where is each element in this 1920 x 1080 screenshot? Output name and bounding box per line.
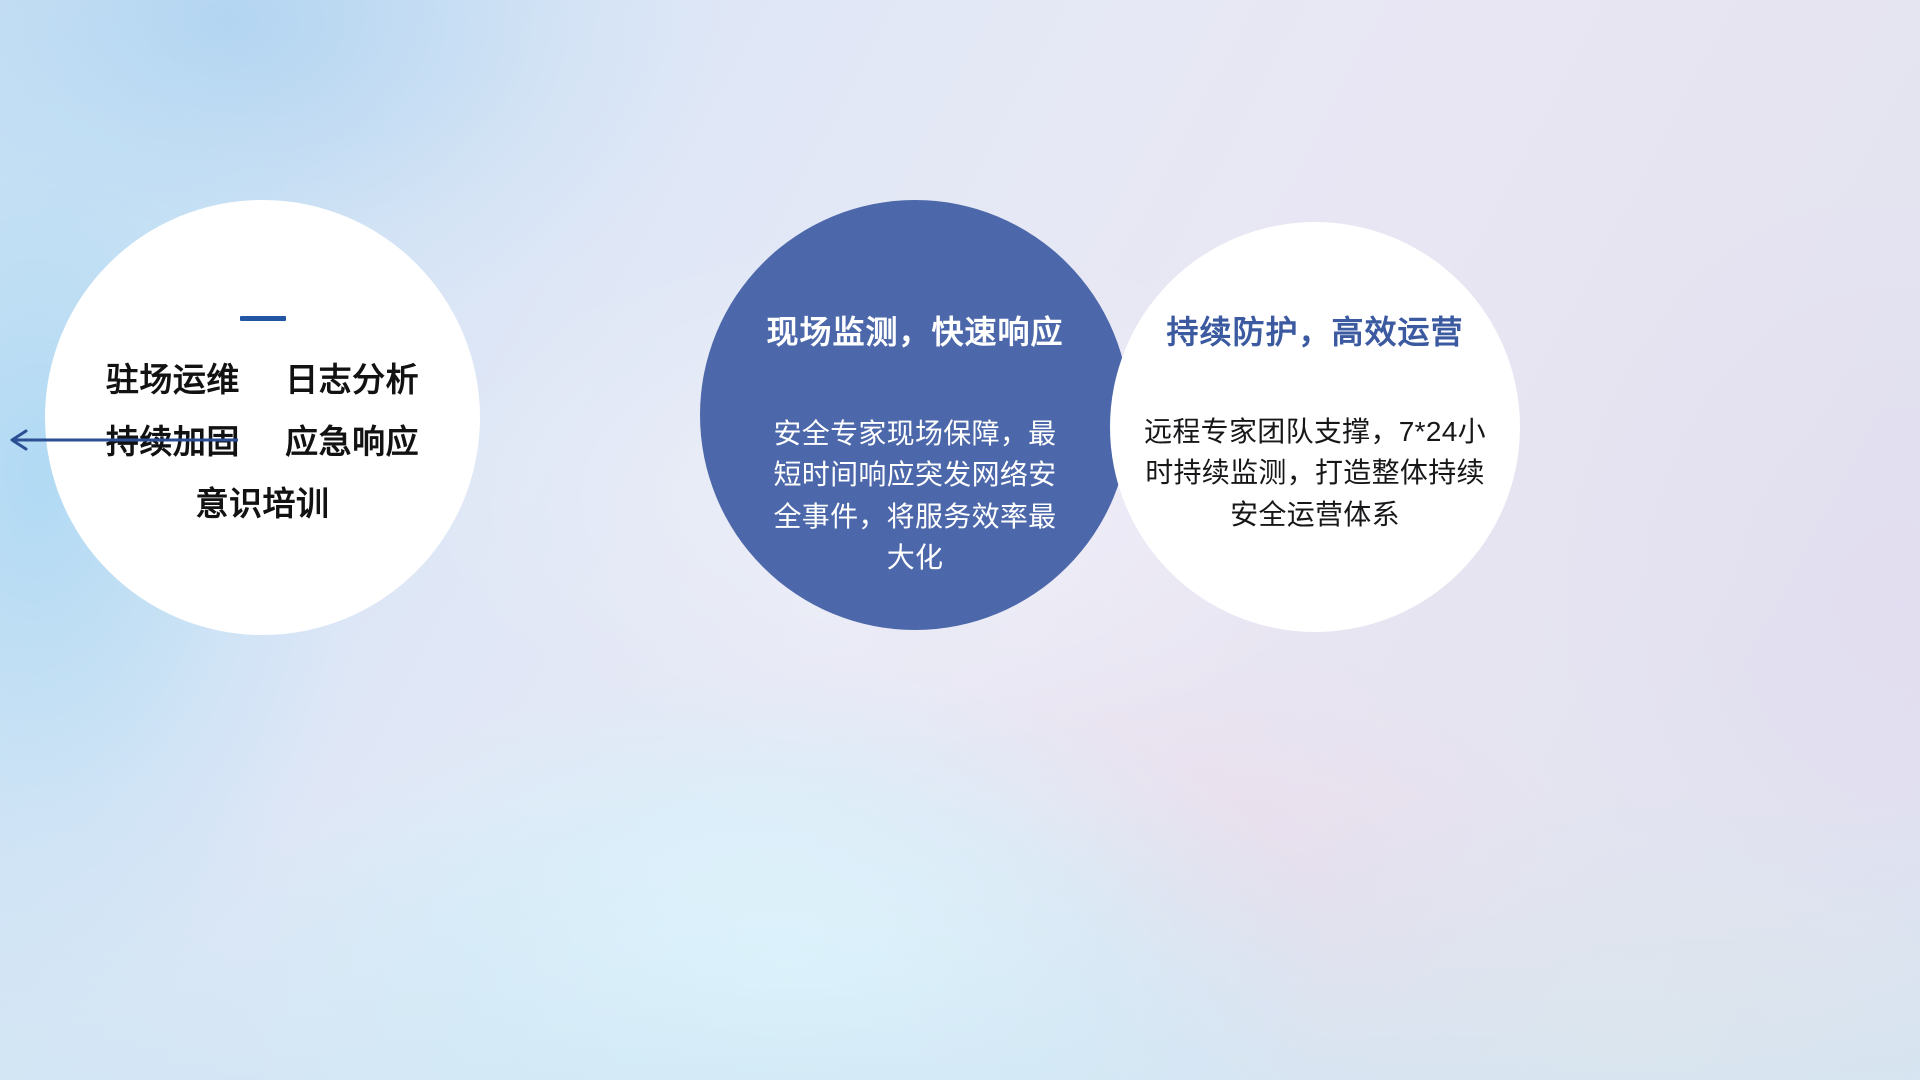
capability-label-log-analysis: 日志分析	[285, 361, 419, 398]
onsite-monitoring-title: 现场监测，快速响应	[766, 307, 1063, 353]
capability-row-3: 意识培训	[196, 487, 330, 520]
capability-label-awareness-training: 意识培训	[196, 485, 330, 522]
capability-row-1: 驻场运维 日志分析	[106, 363, 419, 396]
flow-arrow-left	[0, 420, 240, 460]
capability-label-onsite-ops: 驻场运维	[106, 361, 240, 398]
continuous-protection-body: 远程专家团队支撑，7*24小时持续监测，打造整体持续安全运营体系	[1143, 411, 1488, 535]
divider-dash-icon	[240, 316, 286, 321]
continuous-protection-title: 持续防护，高效运营	[1166, 307, 1463, 353]
capabilities-circle[interactable]: 驻场运维 日志分析 持续加固 应急响应 意识培训	[45, 200, 480, 635]
continuous-protection-circle[interactable]: 持续防护，高效运营 远程专家团队支撑，7*24小时持续监测，打造整体持续安全运营…	[1110, 222, 1520, 632]
slide-canvas: 驻场运维 日志分析 持续加固 应急响应 意识培训 现场监测，快速响应 安全专家现…	[0, 0, 1920, 1080]
capability-label-emergency-response: 应急响应	[285, 423, 419, 460]
flow-arrow-icon	[0, 420, 240, 460]
onsite-monitoring-body: 安全专家现场保障，最短时间响应突发网络安全事件，将服务效率最大化	[765, 413, 1065, 579]
onsite-monitoring-circle[interactable]: 现场监测，快速响应 安全专家现场保障，最短时间响应突发网络安全事件，将服务效率最…	[700, 200, 1130, 630]
